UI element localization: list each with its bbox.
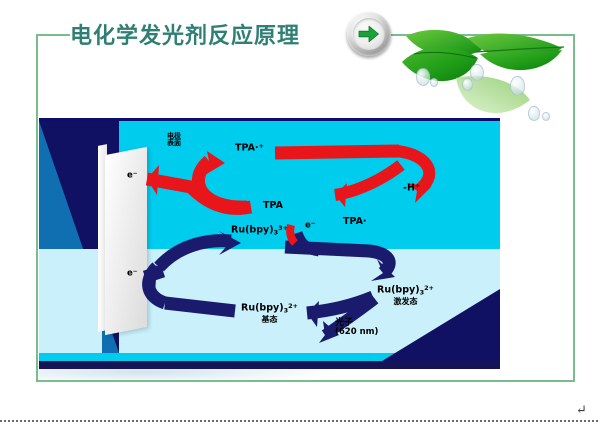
next-arrow-button-inner xyxy=(353,18,385,50)
label-tpa-radical-cation: TPA·+ xyxy=(235,143,264,154)
electron-label-upper: e− xyxy=(127,171,138,180)
frame-line-top-left xyxy=(36,34,70,36)
right-arrow-icon xyxy=(358,25,380,43)
water-drop-icon xyxy=(510,76,525,96)
label-ru-bpy-3plus: Ru(bpy)33+ xyxy=(231,225,288,236)
electrode-plate xyxy=(105,147,147,335)
page-bottom-area xyxy=(0,400,600,426)
reaction-mechanism-diagram: 电极表面 e− e− e− TPA·+ TPA TPA· -H+ Ru(bpy)… xyxy=(39,118,500,369)
label-proton-loss: -H+ xyxy=(403,183,420,194)
paragraph-mark: ↵ xyxy=(576,402,587,418)
label-ru-bpy-ground: Ru(bpy)32+ 基态 xyxy=(241,303,298,325)
water-drop-icon xyxy=(470,64,484,81)
slide-canvas: 电化学发光剂反应原理 xyxy=(0,0,600,400)
label-ru-bpy-excited: Ru(bpy)32+ 激发态 xyxy=(377,285,434,307)
water-drop-icon xyxy=(542,112,550,121)
label-tpa: TPA xyxy=(263,201,283,211)
page-title: 电化学发光剂反应原理 xyxy=(70,18,300,50)
label-tpa-radical: TPA· xyxy=(343,217,367,227)
next-arrow-button[interactable] xyxy=(347,12,391,56)
electron-label-middle: e− xyxy=(305,221,316,230)
frame-line-bottom xyxy=(36,380,575,382)
electron-label-lower: e− xyxy=(127,269,138,278)
electrode-label: 电极表面 xyxy=(167,133,181,148)
label-ground-state-cn: 基态 xyxy=(241,316,298,324)
label-excited-state-cn: 激发态 xyxy=(377,298,434,306)
water-drop-icon xyxy=(416,68,430,86)
label-photon: 光子 (620 nm) xyxy=(335,319,378,338)
water-drop-icon xyxy=(528,106,540,121)
page-boundary-dotted-line xyxy=(0,420,600,422)
water-drop-icon xyxy=(430,78,438,87)
frame-line-left xyxy=(36,34,38,382)
diagram-lower-left xyxy=(39,249,102,353)
water-drop-icon xyxy=(462,78,473,91)
